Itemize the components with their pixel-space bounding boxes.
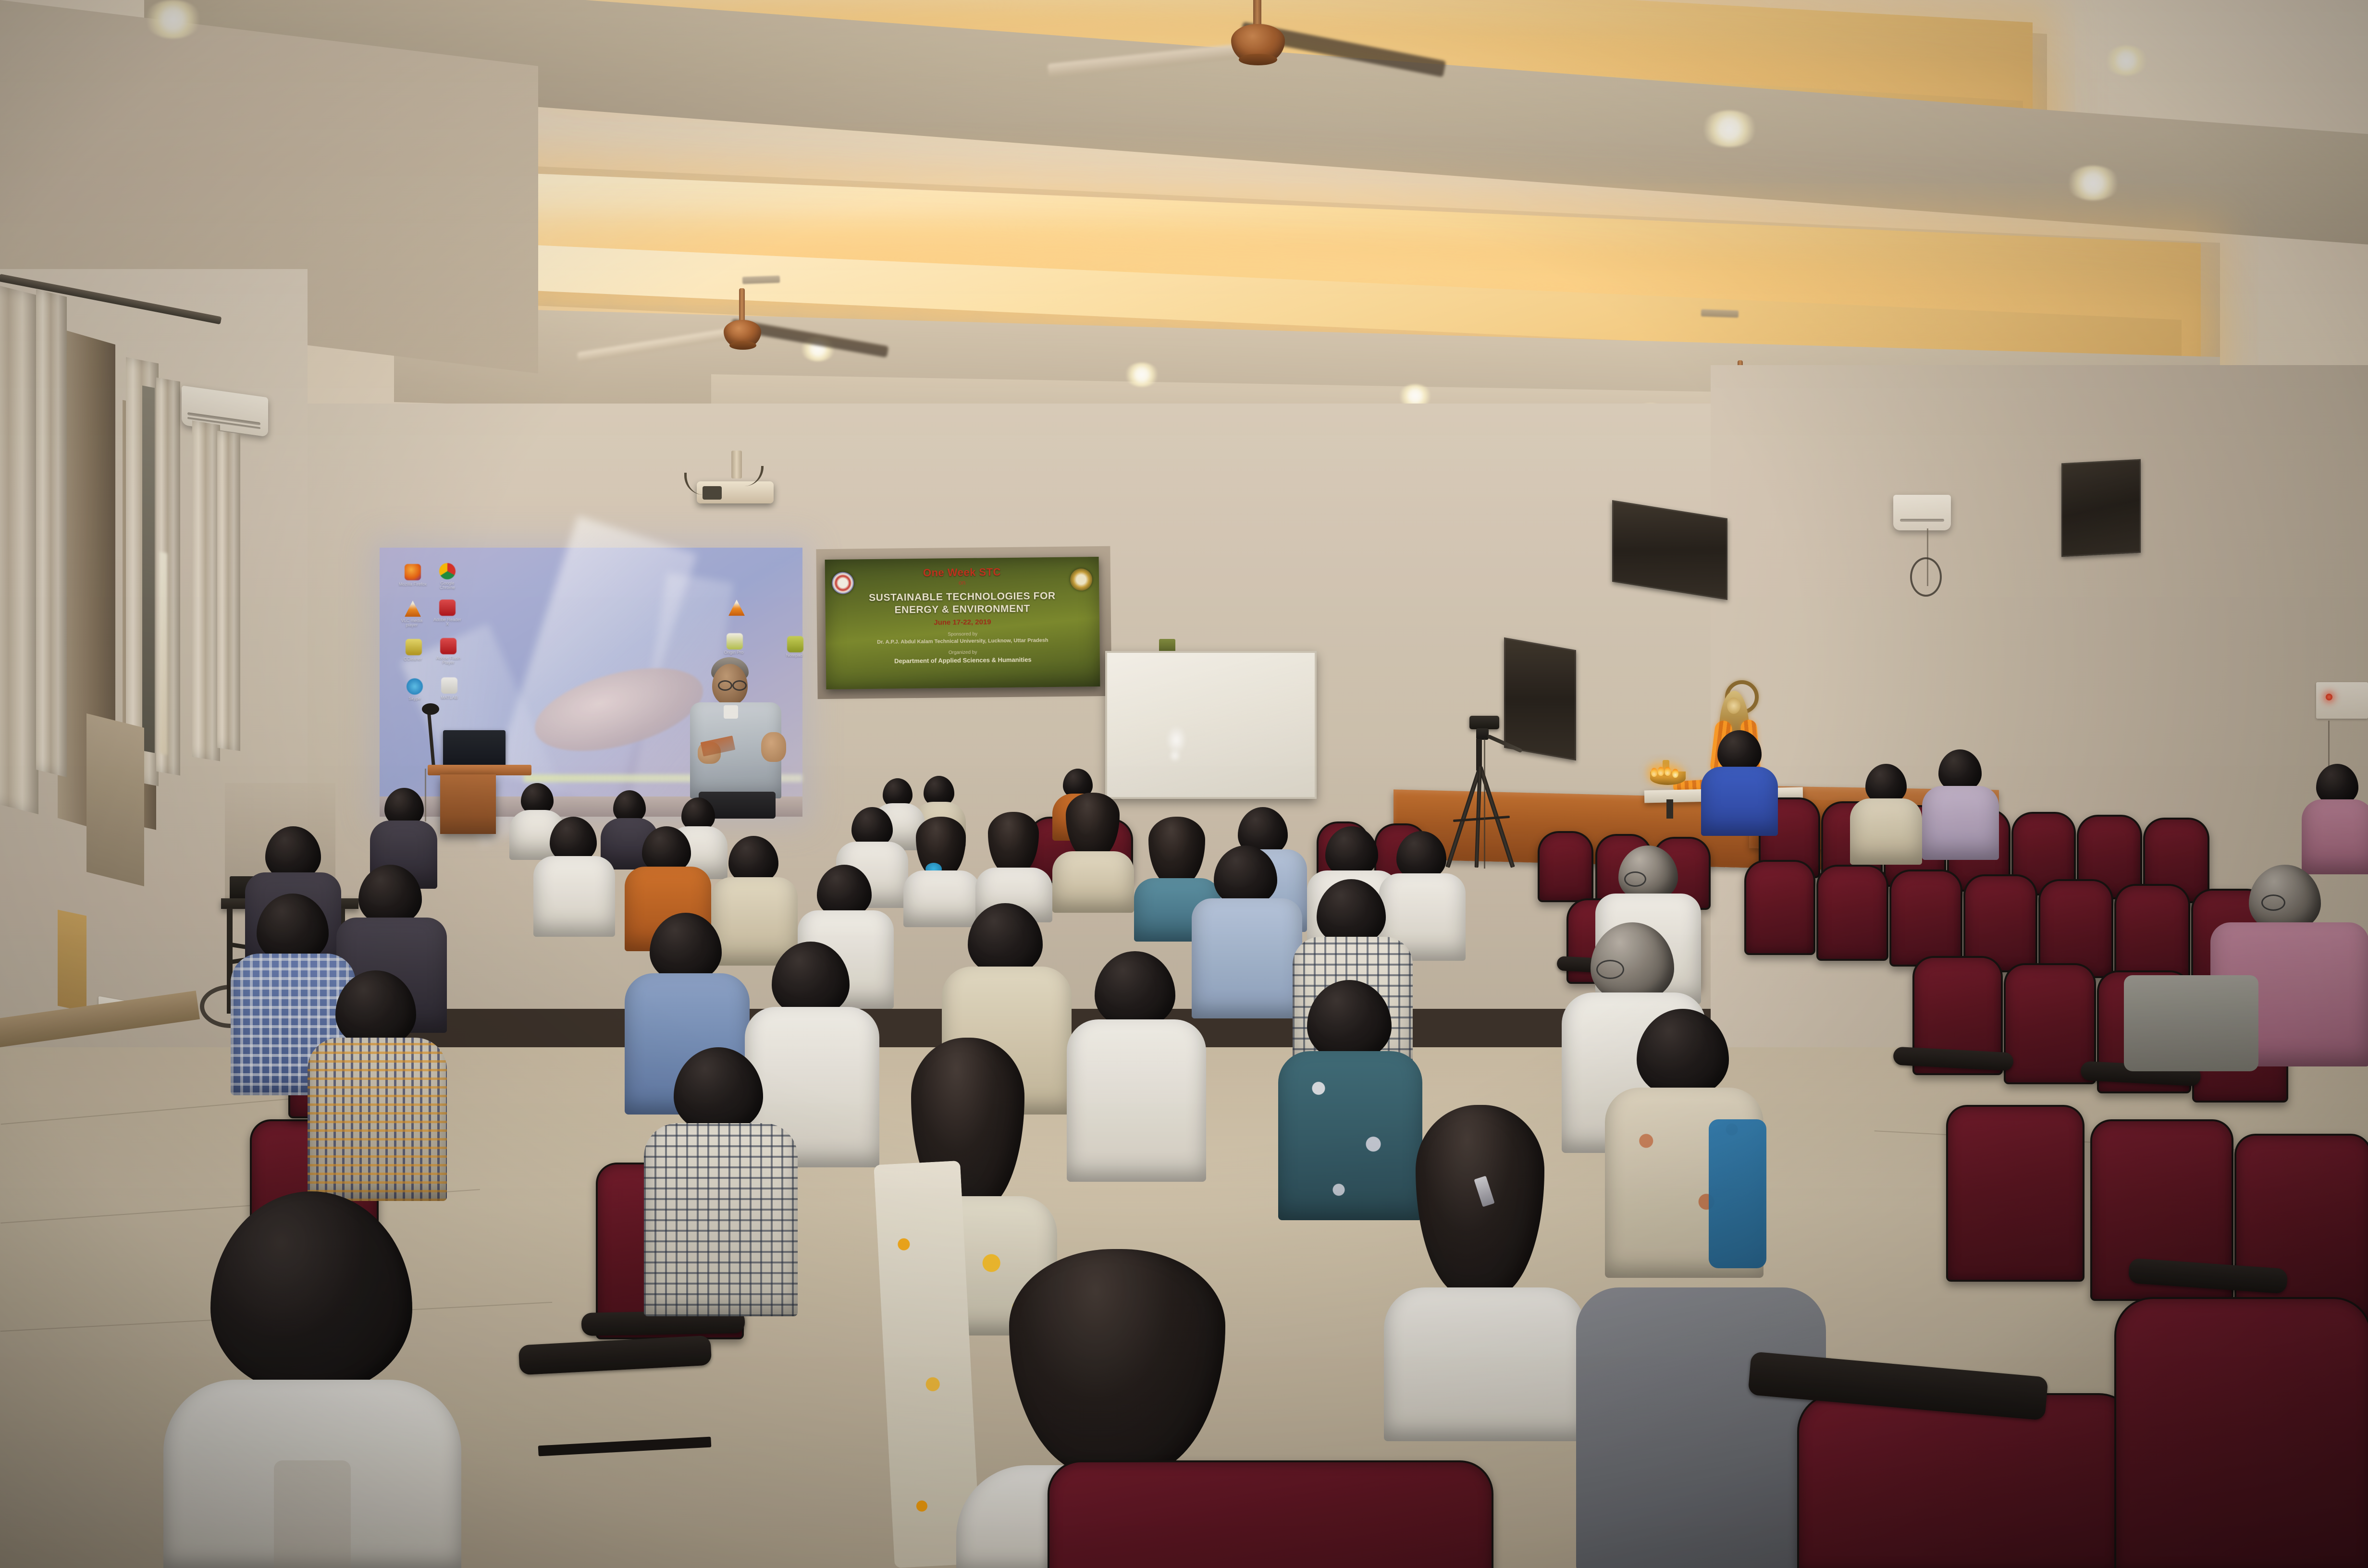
banner-title-line-2: ENERGY & ENVIRONMENT bbox=[854, 603, 1071, 616]
downlight-3 bbox=[2066, 166, 2120, 200]
chair-empty[interactable] bbox=[1816, 865, 1888, 961]
glasses-icon bbox=[2261, 894, 2285, 911]
banner-organized-label: Organized by bbox=[855, 649, 1071, 656]
person-head bbox=[968, 903, 1043, 975]
wall-speaker-2 bbox=[2061, 459, 2141, 557]
banner-sponsor: Dr. A.P.J. Abdul Kalam Technical Univers… bbox=[854, 638, 1071, 646]
person-head bbox=[1416, 1105, 1544, 1297]
banner-department: Department of Applied Sciences & Humanit… bbox=[855, 656, 1071, 665]
bag-or-jacket bbox=[1576, 1287, 1826, 1568]
chair-foreground-1[interactable] bbox=[1048, 1460, 1493, 1568]
podium-body bbox=[440, 774, 496, 834]
chair-empty[interactable] bbox=[1889, 870, 1962, 967]
presenter-right-hand bbox=[761, 732, 786, 762]
shirt-collar-shadow bbox=[274, 1460, 351, 1568]
person-head bbox=[358, 865, 422, 925]
whiteboard-glare bbox=[1169, 749, 1181, 762]
fan-cap bbox=[1239, 54, 1277, 65]
desktop-icon-label: CCleaner bbox=[398, 657, 428, 661]
desktop-icon-label: Skype bbox=[400, 697, 430, 701]
person-head bbox=[1095, 951, 1175, 1028]
glasses-icon bbox=[732, 680, 747, 691]
audience-member bbox=[1605, 1009, 1764, 1278]
person-head bbox=[1214, 845, 1277, 906]
banner-date: June 17-22, 2019 bbox=[854, 617, 1071, 627]
desktop-icon-label: MATLAB bbox=[434, 696, 464, 700]
tripod-column bbox=[1476, 739, 1482, 771]
desktop-icon-label: Google Chrome bbox=[432, 581, 462, 590]
power-indicator-led bbox=[2326, 694, 2332, 700]
lamp-flame bbox=[1665, 767, 1671, 776]
audience-member-foreground-left bbox=[163, 1191, 461, 1568]
wall-control-box bbox=[1893, 495, 1951, 530]
person-head bbox=[650, 913, 722, 982]
downlight-2 bbox=[1701, 110, 1758, 147]
tripod-pan-handle[interactable] bbox=[1487, 734, 1523, 753]
person-head bbox=[210, 1191, 412, 1393]
desktop-icon-vlc[interactable] bbox=[405, 600, 421, 617]
desktop-icon-chrome[interactable] bbox=[439, 563, 456, 579]
chair-foreground-2[interactable] bbox=[1797, 1393, 2137, 1568]
audience-member bbox=[1922, 749, 1999, 860]
tripod-head bbox=[1476, 728, 1489, 740]
chair-empty[interactable] bbox=[1946, 1105, 2084, 1282]
desktop-icon-label: VLC media player bbox=[397, 619, 427, 628]
desktop-icon-ccleaner[interactable] bbox=[406, 639, 422, 655]
person-torso bbox=[1922, 786, 1999, 860]
person-torso bbox=[533, 856, 615, 937]
audience-member bbox=[1850, 764, 1922, 865]
person-head bbox=[1938, 749, 1982, 792]
shrine-table-leg bbox=[1666, 799, 1673, 819]
wall-switchplate[interactable] bbox=[2316, 682, 2368, 719]
desktop-icon-matlab[interactable] bbox=[441, 677, 457, 694]
audience-member bbox=[308, 970, 447, 1201]
audience-member bbox=[1384, 1105, 1586, 1441]
idol-face bbox=[1727, 698, 1740, 714]
person-head bbox=[2249, 865, 2321, 932]
fan-cap bbox=[729, 341, 756, 350]
person-head bbox=[1009, 1249, 1225, 1475]
person-torso bbox=[1850, 798, 1922, 865]
audience-member bbox=[1052, 793, 1134, 913]
chair-empty[interactable] bbox=[1744, 860, 1815, 955]
person-head bbox=[728, 836, 778, 884]
person-head bbox=[257, 894, 329, 963]
curtain-6 bbox=[217, 431, 240, 751]
desktop-icon-label: Adobe Flash Player bbox=[433, 656, 463, 665]
wall-marking bbox=[58, 910, 86, 1012]
podium-top-surface bbox=[428, 765, 531, 775]
glasses-icon bbox=[1596, 960, 1624, 979]
audience-member bbox=[1067, 951, 1206, 1182]
seminar-hall-photograph: Mozilla Firefox Google Chrome VLC media … bbox=[0, 0, 2368, 1568]
desktop-icon-label: Mozilla Firefox bbox=[398, 582, 428, 587]
event-banner: One Week STC on SUSTAINABLE TECHNOLOGIES… bbox=[825, 557, 1100, 689]
blue-dupatta bbox=[1709, 1119, 1766, 1268]
ceiling-fan-front bbox=[1158, 0, 1389, 106]
person-head bbox=[988, 812, 1039, 874]
wall-panel-left bbox=[86, 713, 144, 886]
person-head bbox=[1317, 879, 1386, 945]
window-slot-1 bbox=[142, 385, 155, 753]
ceiling-fan-middle bbox=[668, 303, 851, 375]
person-head bbox=[817, 865, 872, 918]
downlight-1 bbox=[144, 0, 202, 38]
lamp-flame bbox=[1672, 769, 1678, 778]
institute-seal-logo-icon bbox=[1070, 568, 1092, 590]
banner-sponsored-label: Sponsored by bbox=[854, 631, 1071, 638]
banner-stc-line: One Week STC bbox=[854, 566, 1070, 579]
ceiling-vent-4 bbox=[1701, 309, 1739, 318]
desktop-icon-label: Origin Pro bbox=[719, 650, 749, 655]
chair-empty[interactable] bbox=[2234, 1134, 2368, 1320]
glasses-icon bbox=[1624, 871, 1646, 887]
audience-member-foreground-right bbox=[1576, 1259, 1826, 1568]
curtain-1 bbox=[0, 281, 38, 814]
desktop-icon-origin[interactable] bbox=[727, 633, 743, 649]
desktop-icon-skype[interactable] bbox=[407, 678, 423, 695]
person-head bbox=[1637, 1009, 1729, 1097]
desktop-icon-adobe-reader[interactable] bbox=[439, 600, 456, 616]
whiteboard bbox=[1105, 651, 1317, 799]
person-legs bbox=[2124, 975, 2258, 1071]
projector-cable-1 bbox=[684, 473, 708, 495]
person-head bbox=[1307, 980, 1392, 1061]
person-torso bbox=[644, 1123, 798, 1316]
person-torso bbox=[308, 1038, 447, 1201]
curtain-5 bbox=[192, 420, 220, 761]
person-head bbox=[335, 970, 416, 1047]
camera-cable bbox=[1484, 739, 1485, 869]
person-head bbox=[1717, 730, 1762, 772]
cable-coil bbox=[1910, 557, 1942, 597]
ceiling-projector bbox=[687, 461, 798, 524]
glasses-icon bbox=[718, 680, 732, 691]
chair-empty[interactable] bbox=[2114, 884, 2190, 984]
banner-on-word: on bbox=[854, 578, 1070, 587]
audience-member bbox=[1701, 730, 1778, 836]
fan-downrod bbox=[739, 288, 745, 323]
person-head bbox=[1325, 826, 1378, 877]
person-torso bbox=[1384, 1287, 1586, 1441]
presenter-collar bbox=[724, 705, 738, 719]
presenter bbox=[672, 657, 811, 816]
person-head bbox=[1066, 793, 1120, 858]
desktop-icon-notepad[interactable] bbox=[787, 636, 803, 652]
downlight-9 bbox=[1124, 363, 1159, 387]
audience-member bbox=[644, 1047, 798, 1316]
lamp-flame bbox=[1651, 768, 1657, 777]
desktop-icon-flash-player[interactable] bbox=[440, 638, 456, 654]
person-torso bbox=[1067, 1019, 1206, 1182]
lamp-flame bbox=[1658, 767, 1664, 776]
university-seal-logo-icon bbox=[832, 572, 854, 594]
person-torso bbox=[2302, 799, 2368, 874]
downlight-4 bbox=[2105, 46, 2148, 75]
chair-foreground-3[interactable] bbox=[2114, 1297, 2368, 1568]
person-torso bbox=[1701, 767, 1778, 836]
desktop-icon-firefox[interactable] bbox=[405, 564, 421, 580]
video-camera-body bbox=[1469, 716, 1499, 729]
desktop-icon-label: Adobe Reader X bbox=[432, 618, 462, 627]
curtain-2 bbox=[36, 289, 67, 777]
person-head bbox=[1396, 831, 1446, 880]
desktop-icon-vlc-2[interactable] bbox=[728, 600, 745, 616]
person-head bbox=[772, 942, 850, 1017]
audience-member bbox=[533, 817, 615, 937]
audience-member bbox=[2302, 764, 2368, 874]
chair-empty[interactable] bbox=[1538, 831, 1593, 902]
podium-laptop bbox=[443, 730, 506, 766]
projector-mount bbox=[731, 451, 742, 478]
vent-slat bbox=[1900, 519, 1944, 522]
microphone-head bbox=[422, 703, 439, 715]
banner-title-line-1: SUSTAINABLE TECHNOLOGIES FOR bbox=[854, 590, 1070, 603]
window-daylight bbox=[160, 552, 167, 755]
person-head bbox=[674, 1047, 763, 1133]
ceiling-vent-3 bbox=[742, 276, 780, 284]
